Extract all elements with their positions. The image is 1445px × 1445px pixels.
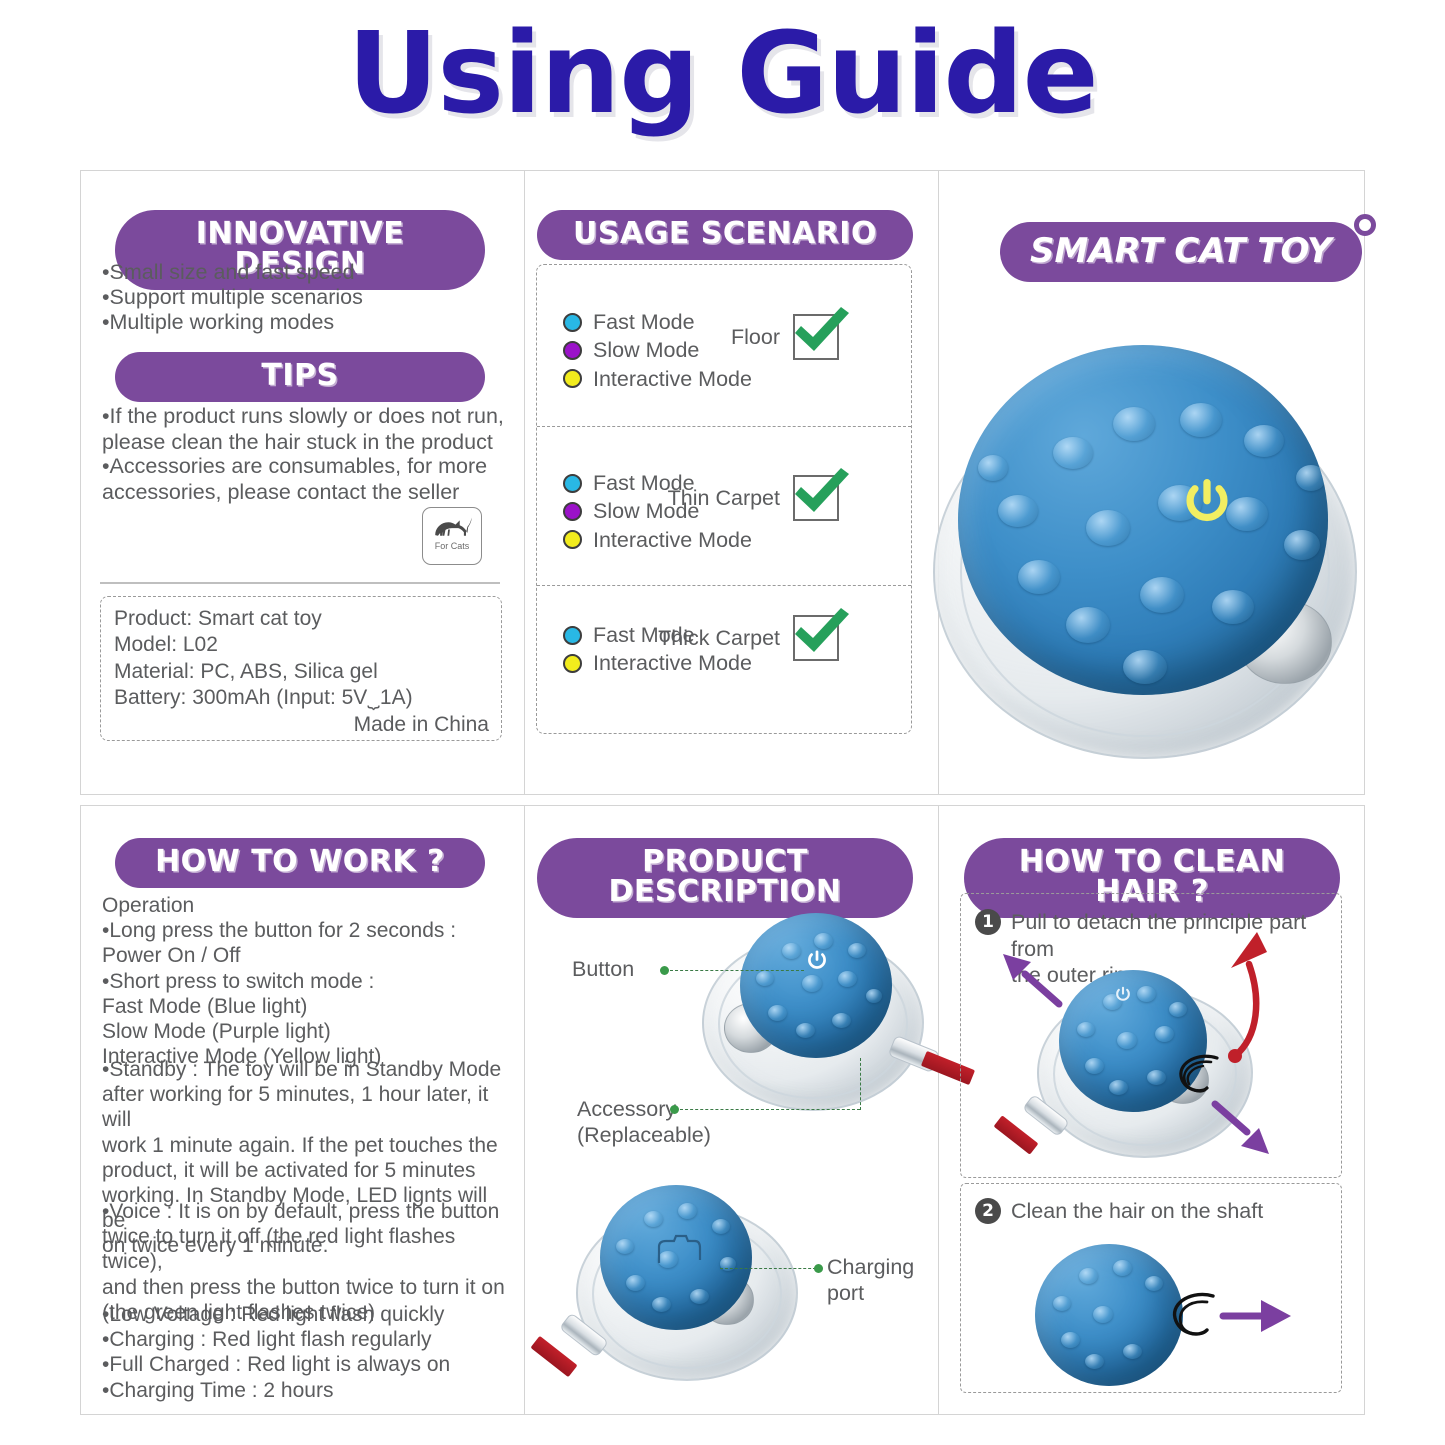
- made-in-label: Made in China: [114, 712, 489, 738]
- mode-line: Slow Mode: [563, 336, 752, 364]
- interactive-mode-dot: [563, 369, 582, 388]
- hero-cell: SMART CAT TOY: [938, 170, 1365, 795]
- power-icon: [804, 947, 830, 973]
- slow-mode-dot: [563, 341, 582, 360]
- innovative-design-bullet-1: •Support multiple scenarios: [102, 285, 363, 311]
- arrow-red-curved-icon: [1209, 924, 1289, 1074]
- clean-step-1-image: [1009, 966, 1299, 1172]
- mode-label: Interactive Mode: [593, 365, 752, 393]
- accessory-ribbon: [530, 1336, 577, 1377]
- mode-label: Fast Mode: [593, 308, 695, 336]
- smart-cat-toy-badge: SMART CAT TOY: [1000, 222, 1362, 282]
- callout-label-button: Button: [572, 957, 634, 983]
- arrow-purple-right-icon: [1219, 1296, 1295, 1336]
- how-to-work-block-3: •Low Voltage : Red light flash quickly •…: [102, 1302, 514, 1403]
- for-cats-badge: For Cats: [422, 507, 482, 565]
- mode-label: Interactive Mode: [593, 649, 752, 677]
- usage-scenario-heading: USAGE SCENARIO: [537, 210, 913, 260]
- check-icon: [787, 303, 853, 359]
- callout-dot-charging-port: [814, 1264, 823, 1273]
- mode-line: Interactive Mode: [563, 526, 752, 554]
- hero-product-image: [928, 345, 1398, 765]
- charging-port-icon: [656, 1233, 702, 1267]
- surface-label-thin-carpet: Thin Carpet: [668, 486, 780, 511]
- tips-heading: TIPS: [115, 352, 485, 402]
- accessory-ribbon: [994, 1115, 1039, 1154]
- callout-dot-button: [660, 966, 669, 975]
- fast-mode-dot: [563, 313, 582, 332]
- smart-cat-toy-badge-wrap: SMART CAT TOY: [1000, 222, 1362, 282]
- callout-label-charging-port: Charging port: [827, 1255, 914, 1307]
- arrow-purple-downright-icon: [1209, 1098, 1279, 1160]
- mode-label: Slow Mode: [593, 336, 699, 364]
- mode-line: Interactive Mode: [563, 649, 752, 677]
- callout-line-accessory-v: [860, 1058, 861, 1110]
- how-to-work-block-0: Operation •Long press the button for 2 s…: [102, 893, 514, 1069]
- usage-scenario-cell: USAGE SCENARIO Fast Mode Slow Mode Inter…: [524, 170, 938, 795]
- badge-degree-dot: [1354, 214, 1376, 236]
- fast-mode-dot: [563, 626, 582, 645]
- step-text-2: Clean the hair on the shaft: [1011, 1198, 1333, 1225]
- spec-line-2: Material: PC, ABS, Silica gel: [114, 659, 489, 685]
- slow-mode-dot: [563, 502, 582, 521]
- page-title: Using Guide: [0, 10, 1445, 139]
- power-icon: [1113, 984, 1133, 1004]
- spec-box: Product: Smart cat toy Model: L02 Materi…: [100, 596, 502, 741]
- check-icon: [787, 604, 853, 660]
- product-ball: [958, 345, 1328, 695]
- innovative-design-bullet-2: •Multiple working modes: [102, 310, 334, 336]
- power-button-icon-product: [804, 947, 830, 973]
- callout-label-accessory: Accessory (Replaceable): [577, 1097, 711, 1149]
- product-description-cell: PRODUCT DESCRIPTION Button A: [524, 805, 938, 1415]
- product-ball: [740, 913, 892, 1058]
- step-number-2: 2: [975, 1198, 1001, 1224]
- surface-label-thick-carpet: Thick Carpet: [658, 626, 780, 651]
- callout-line-accessory-h: [680, 1109, 860, 1110]
- callout-line-button: [670, 970, 804, 971]
- power-button-icon-step1: [1113, 984, 1133, 1004]
- scenario-row-floor: Fast Mode Slow Mode Interactive Mode Flo…: [537, 265, 911, 426]
- scenario-row-thick-carpet: Fast Mode Interactive Mode Thick Carpet: [537, 585, 911, 735]
- product-photo-bottom: [544, 1177, 834, 1397]
- callout-line-charging-port: [720, 1268, 816, 1269]
- power-button-icon-hero: [1178, 473, 1236, 531]
- product-ball: [600, 1185, 752, 1330]
- power-icon: [1178, 473, 1236, 531]
- mode-label: Interactive Mode: [593, 526, 752, 554]
- for-cats-label: For Cats: [435, 541, 470, 551]
- step-number-1: 1: [975, 909, 1001, 935]
- spec-line-0: Product: Smart cat toy: [114, 606, 489, 632]
- arrow-purple-upleft-icon: [995, 948, 1067, 1010]
- usage-scenario-box: Fast Mode Slow Mode Interactive Mode Flo…: [536, 264, 912, 734]
- interactive-mode-dot: [563, 530, 582, 549]
- mode-line: Fast Mode: [563, 308, 752, 336]
- how-to-work-heading: HOW TO WORK ?: [115, 838, 485, 888]
- surface-label-floor: Floor: [731, 325, 780, 350]
- cat-icon: [431, 512, 473, 540]
- mode-line: Interactive Mode: [563, 365, 752, 393]
- callout-dot-accessory: [670, 1105, 679, 1114]
- innovative-design-bullet-0: •Small size and fast speed: [102, 260, 355, 286]
- scenario-row-thin-carpet: Fast Mode Slow Mode Interactive Mode Thi…: [537, 426, 911, 585]
- divider-rule: [100, 582, 500, 584]
- check-icon: [787, 464, 853, 520]
- tips-bullet-0: •If the product runs slowly or does not …: [102, 404, 504, 456]
- interactive-mode-dot: [563, 654, 582, 673]
- innovative-design-cell: INNOVATIVE DESIGN •Small size and fast s…: [80, 170, 524, 795]
- tips-bullet-1: •Accessories are consumables, for more a…: [102, 454, 487, 506]
- clean-step-1-box: 1 Pull to detach the principle part from…: [960, 893, 1342, 1178]
- fast-mode-dot: [563, 474, 582, 493]
- spec-line-1: Model: L02: [114, 632, 489, 658]
- clean-step-2-box: 2 Clean the hair on the shaft: [960, 1183, 1342, 1393]
- clean-step-2-image: [1025, 1240, 1305, 1390]
- how-to-clean-hair-cell: HOW TO CLEAN HAIR ? 1 Pull to detach the…: [938, 805, 1365, 1415]
- product-photo-top: [694, 895, 944, 1120]
- spec-line-3: Battery: 300mAh (Input: 5V⏟1A): [114, 685, 489, 711]
- how-to-work-cell: HOW TO WORK ? Operation •Long press the …: [80, 805, 524, 1415]
